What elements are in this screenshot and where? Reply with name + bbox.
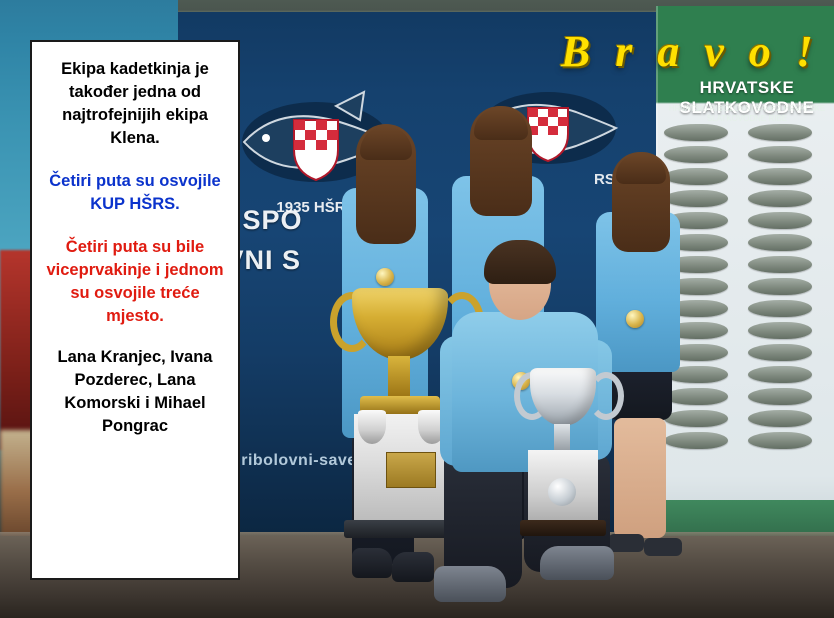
fish-chart-column-right — [748, 124, 822, 454]
girl-left-shoe-right — [392, 552, 434, 582]
silver-trophy-foot — [520, 520, 606, 536]
man-shoe-right — [540, 546, 614, 580]
caption-paragraph-intro: Ekipa kadetkinja je također jedna od naj… — [44, 58, 226, 150]
girl-right-sandal-right — [644, 538, 682, 556]
caption-paragraph-members: Lana Kranjec, Ivana Pozderec, Lana Komor… — [44, 346, 226, 438]
silver-trophy-emblem — [548, 478, 576, 506]
girl-right-medal-icon — [626, 310, 644, 328]
caption-box: Ekipa kadetkinja je također jedna od naj… — [30, 40, 240, 580]
man-shoe-left — [434, 566, 506, 602]
gold-trophy-foot — [344, 520, 460, 538]
girl-right-sandal-left — [608, 534, 644, 552]
photo-canvas: SKI SPO LOVNI S 1935 HŠRS — [0, 0, 834, 618]
bravo-headline: B r a v o ! — [520, 26, 820, 77]
caption-spacer-1 — [44, 150, 226, 170]
caption-spacer-3 — [44, 328, 226, 346]
right-banner-subtitle: HRVATSKI RIBOLOVNI SAVEZ HRVATSKE SLATKO… — [662, 104, 832, 124]
girl-left-medal-icon — [376, 268, 394, 286]
caption-spacer-2 — [44, 216, 226, 236]
gold-trophy-stem — [388, 356, 410, 398]
gold-trophy-plaque — [386, 452, 436, 488]
girl-right-legs — [614, 418, 666, 538]
caption-paragraph-viceprvakinje: Četiri puta su bile viceprvakinje i jedn… — [44, 236, 226, 328]
caption-paragraph-kup: Četiri puta su osvojile KUP HŠRS. — [44, 170, 226, 216]
girl-left-shoe-left — [352, 548, 392, 578]
